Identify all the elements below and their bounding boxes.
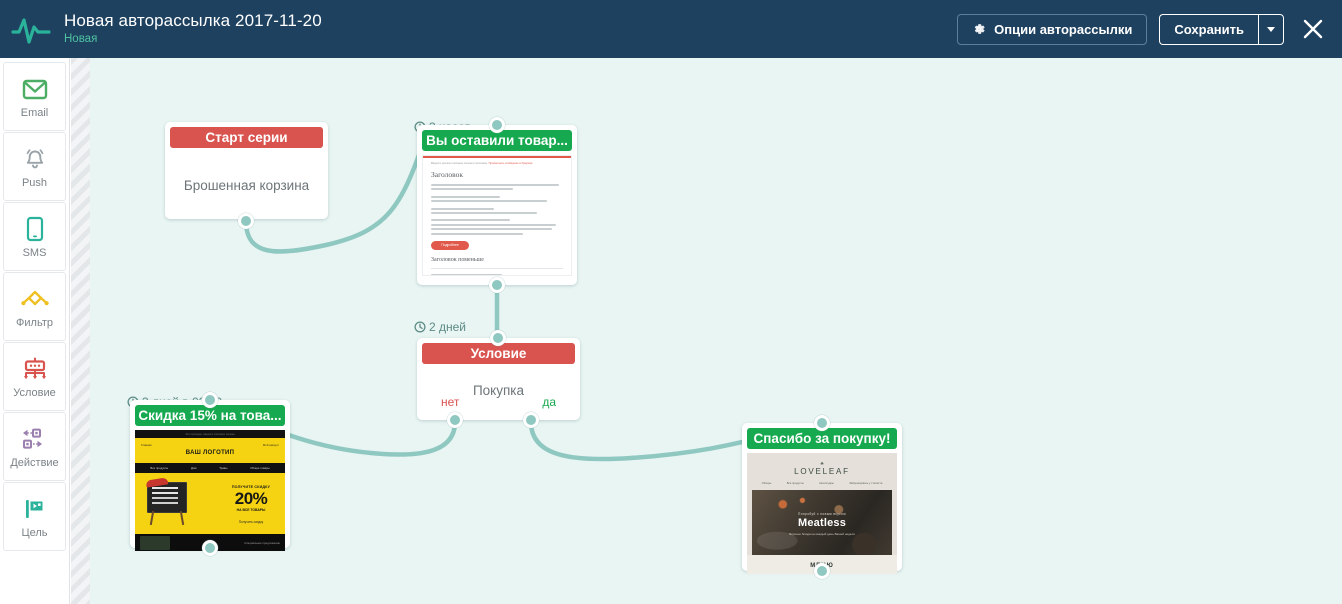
sidebar-item-label: Условие: [13, 387, 56, 400]
condition-label-yes: да: [542, 395, 556, 409]
thumb-logo-left: Главная: [141, 443, 152, 447]
node-port-mail1-in[interactable]: [489, 117, 505, 133]
node-header: Условие: [422, 343, 575, 364]
envelope-icon: [22, 74, 48, 104]
thumb-logo-block: Главная Мой аккаунт ВАШ ЛОГОТИП: [135, 438, 285, 463]
node-port-mail1-out[interactable]: [489, 277, 505, 293]
node-body-text: Покупка: [417, 364, 580, 398]
sidebar-item-push[interactable]: Push: [3, 132, 66, 201]
thumb-footer-text: Специальное предложение: [170, 541, 280, 545]
node-body-text: Брошенная корзина: [165, 148, 328, 193]
sidebar-item-label: SMS: [23, 247, 47, 260]
node-port-start-out[interactable]: [238, 213, 254, 229]
node-port-mail3-out[interactable]: [814, 563, 830, 579]
delay-label-condition[interactable]: 2 дней: [414, 320, 466, 334]
chevron-down-icon: [1267, 27, 1275, 32]
thumb-nav-item: Забронировать у стилиста: [849, 482, 882, 485]
thumb-nav: Обзоры Все продукты Аксессуары Заброниро…: [754, 482, 890, 485]
thumb-top-rule: [423, 156, 571, 158]
close-button[interactable]: [1298, 14, 1328, 44]
sidebar-item-label: Действие: [10, 457, 58, 470]
email-thumbnail: Введите краткое описание письма в заголо…: [422, 155, 572, 276]
thumb-hero-title: Meatless: [752, 517, 892, 529]
thumb-nav-item: Все продукты: [787, 482, 804, 485]
condition-robot-icon: [21, 354, 49, 384]
flow-canvas[interactable]: Старт серии Брошенная корзина 3 часов Вы…: [71, 58, 1342, 604]
header-actions: Опции авторассылки Сохранить: [957, 14, 1342, 45]
node-port-mail2-out[interactable]: [202, 540, 218, 556]
email-thumbnail: ☘LOVELEAF Обзоры Все продукты Аксессуары…: [747, 453, 897, 574]
app-logo: [0, 0, 62, 58]
page-title: Новая авторассылка 2017-11-20: [64, 11, 957, 31]
node-header: Вы оставили товар...: [422, 130, 572, 151]
node-header: Старт серии: [170, 127, 323, 148]
thumb-nav-item: Дом: [191, 466, 196, 470]
thumb-hero-sub: Вкусные блюда на каждый день Вашей недел…: [752, 532, 892, 536]
node-port-mail2-in[interactable]: [202, 392, 218, 408]
node-port-condition-yes[interactable]: [523, 412, 539, 428]
close-icon: [1302, 18, 1324, 40]
sidebar-item-sms[interactable]: SMS: [3, 202, 66, 271]
sidebar-item-label: Email: [21, 107, 49, 120]
thumb-logo-text: ☘LOVELEAF: [752, 459, 892, 477]
thumb-heading: Заголовок: [431, 170, 563, 179]
thumb-nav-item: Травы: [219, 466, 227, 470]
sidebar-item-goal[interactable]: Цель: [3, 482, 66, 551]
node-header: Спасибо за покупку!: [747, 428, 897, 449]
node-port-condition-no[interactable]: [447, 412, 463, 428]
thumb-hero-small: Попробуй с новым вкусом: [752, 512, 892, 516]
thumb-nav-item: Все продукты: [150, 466, 168, 470]
thumb-logo-text: ВАШ ЛОГОТИП: [141, 450, 279, 457]
status-badge: Новая: [64, 32, 957, 47]
goal-flag-icon: [22, 494, 48, 524]
sidebar-item-label: Цель: [21, 527, 47, 540]
app-header: Новая авторассылка 2017-11-20 Новая Опци…: [0, 0, 1342, 58]
thumb-promo-sub: НА ВСЕ ТОВАРЫ: [223, 508, 279, 512]
thumb-nav: Все продукты Дом Травы Общие товары: [135, 463, 285, 473]
condition-label-no: нет: [441, 395, 459, 409]
email-thumbnail: Это прехедер, введите описание письма Гл…: [135, 430, 285, 551]
sidebar-item-label: Фильтр: [16, 317, 53, 330]
thumb-logo-right: Мой аккаунт: [263, 443, 279, 447]
node-header: Скидка 15% на това...: [135, 405, 285, 426]
title-block: Новая авторассылка 2017-11-20 Новая: [62, 11, 957, 47]
thumb-nav-item: Общие товары: [250, 466, 269, 470]
thumb-hero: Попробуй с новым вкусом Meatless Вкусные…: [752, 490, 892, 555]
thumb-nav-item: Аксессуары: [819, 482, 834, 485]
chalkboard-icon: [144, 482, 190, 526]
delay-label-text: 2 дней: [429, 320, 466, 334]
node-email-thank-you[interactable]: Спасибо за покупку! ☘LOVELEAF Обзоры Все…: [742, 423, 902, 571]
thumb-promo-big: 20%: [223, 489, 279, 508]
save-dropdown-button[interactable]: [1258, 14, 1284, 45]
autocampaign-options-button[interactable]: Опции авторассылки: [957, 14, 1147, 45]
sidebar-item-label: Push: [22, 177, 47, 190]
save-button[interactable]: Сохранить: [1159, 14, 1258, 45]
gear-icon: [972, 22, 986, 36]
save-button-group: Сохранить: [1159, 14, 1284, 45]
node-condition-purchase[interactable]: Условие Покупка нет да: [417, 338, 580, 420]
action-swap-icon: [20, 424, 50, 454]
node-port-condition-in[interactable]: [490, 330, 506, 346]
node-email-discount[interactable]: Скидка 15% на това... Это прехедер, введ…: [130, 400, 290, 548]
tool-sidebar: Email Push SMS: [0, 58, 70, 604]
sidebar-item-condition[interactable]: Условие: [3, 342, 66, 411]
thumb-promo-cta: Получить скидку: [223, 520, 279, 524]
pulse-logo-icon: [11, 12, 51, 46]
node-port-mail3-in[interactable]: [814, 415, 830, 431]
bell-icon: [23, 144, 47, 174]
condition-branch-labels: нет да: [417, 395, 580, 409]
thumb-nav-item: Обзоры: [762, 482, 772, 485]
mobile-icon: [26, 214, 44, 244]
sidebar-item-filter[interactable]: Фильтр: [3, 272, 66, 341]
sidebar-item-action[interactable]: Действие: [3, 412, 66, 481]
thumb-heading-2: Заголовок поменьше: [431, 257, 563, 263]
thumb-preheader: Это прехедер, введите описание письма: [135, 430, 285, 438]
sidebar-item-email[interactable]: Email: [3, 62, 66, 131]
thumb-preheader: Введите краткое описание письма в заголо…: [431, 162, 563, 165]
filter-diamond-icon: [20, 284, 50, 314]
flow-graph: Старт серии Брошенная корзина 3 часов Вы…: [71, 58, 1342, 604]
clock-icon: [414, 321, 426, 333]
node-email-abandoned-cart[interactable]: Вы оставили товар... Введите краткое опи…: [417, 125, 577, 285]
node-start-series[interactable]: Старт серии Брошенная корзина: [165, 122, 328, 219]
thumb-hero: ПОЛУЧИТЕ СКИДКУ 20% НА ВСЕ ТОВАРЫ Получи…: [135, 473, 285, 534]
thumb-cta-button: Подробнее: [431, 241, 469, 250]
autocampaign-options-label: Опции авторассылки: [994, 22, 1132, 37]
